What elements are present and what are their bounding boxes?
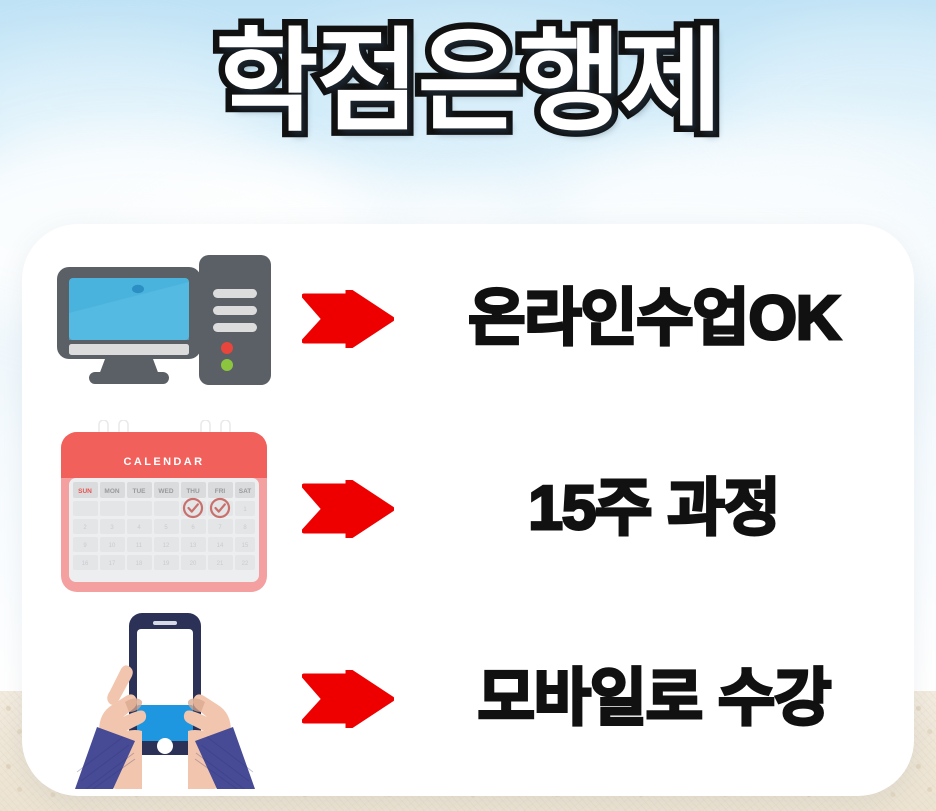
svg-text:SUN: SUN bbox=[78, 488, 92, 495]
feature-text-slot: 온라인수업OK bbox=[408, 288, 914, 350]
svg-text:17: 17 bbox=[109, 561, 116, 567]
svg-text:11: 11 bbox=[136, 543, 143, 549]
feature-row: CALENDAR SUN MO bbox=[22, 414, 914, 604]
svg-text:15: 15 bbox=[242, 543, 249, 549]
svg-text:18: 18 bbox=[136, 561, 143, 567]
svg-text:10: 10 bbox=[109, 543, 116, 549]
red-arrow-icon bbox=[302, 290, 394, 348]
svg-text:WED: WED bbox=[158, 488, 173, 495]
red-arrow-icon bbox=[302, 480, 394, 538]
feature-arrow-slot bbox=[288, 670, 408, 728]
feature-text-slot: 15주 과정 bbox=[408, 478, 914, 540]
mobile-phone-in-hands-icon bbox=[55, 609, 273, 789]
feature-card: 온라인수업OK CALENDAR bbox=[22, 224, 914, 796]
svg-text:19: 19 bbox=[163, 561, 170, 567]
svg-text:MON: MON bbox=[104, 488, 119, 495]
page-title: 학점은행제 bbox=[215, 16, 720, 148]
svg-text:16: 16 bbox=[82, 561, 89, 567]
feature-arrow-slot bbox=[288, 480, 408, 538]
title-block: 학점은행제 bbox=[0, 16, 936, 148]
feature-icon-slot: CALENDAR SUN MO bbox=[40, 414, 288, 604]
poster-root: 학점은행제 bbox=[0, 0, 936, 811]
desktop-computer-icon bbox=[53, 251, 275, 387]
feature-row-list: 온라인수업OK CALENDAR bbox=[22, 224, 914, 796]
feature-label: 15주 과정 bbox=[528, 478, 779, 540]
svg-text:THU: THU bbox=[186, 488, 200, 495]
svg-text:TUE: TUE bbox=[133, 488, 147, 495]
feature-arrow-slot bbox=[288, 290, 408, 348]
red-arrow-icon bbox=[302, 670, 394, 728]
svg-text:14: 14 bbox=[217, 543, 224, 549]
svg-text:12: 12 bbox=[163, 543, 170, 549]
feature-text-slot: 모바일로 수강 bbox=[408, 668, 914, 730]
svg-text:CALENDAR: CALENDAR bbox=[124, 456, 205, 468]
svg-text:FRI: FRI bbox=[215, 488, 226, 495]
feature-label: 모바일로 수강 bbox=[478, 668, 830, 730]
svg-text:20: 20 bbox=[190, 561, 197, 567]
feature-icon-slot bbox=[40, 224, 288, 414]
svg-text:21: 21 bbox=[217, 561, 224, 567]
svg-text:SAT: SAT bbox=[239, 488, 252, 495]
feature-row: 모바일로 수강 bbox=[22, 604, 914, 794]
feature-label: 온라인수업OK bbox=[468, 288, 839, 350]
svg-text:22: 22 bbox=[242, 561, 249, 567]
feature-row: 온라인수업OK bbox=[22, 224, 914, 414]
feature-icon-slot bbox=[40, 604, 288, 794]
svg-text:13: 13 bbox=[190, 543, 197, 549]
calendar-icon: CALENDAR SUN MO bbox=[55, 420, 273, 598]
